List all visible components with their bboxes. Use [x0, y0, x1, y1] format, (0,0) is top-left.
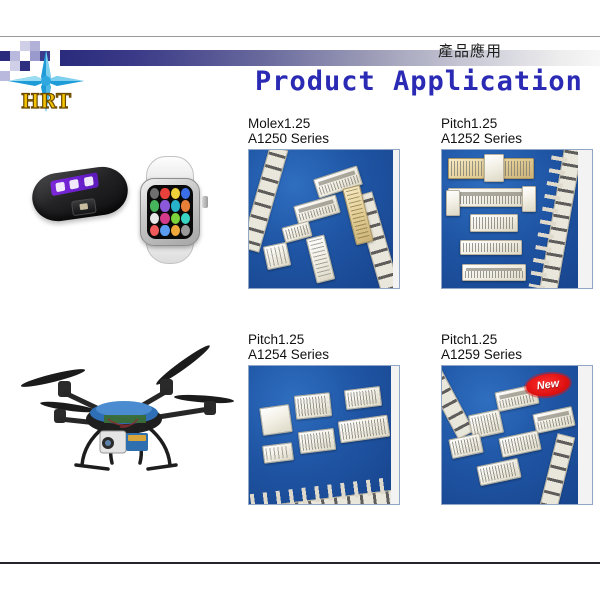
- product-card-a1252[interactable]: Pitch1.25 A1252 Series: [441, 116, 593, 289]
- page-title-english: Product Application: [255, 66, 600, 97]
- product-caption-line2: A1254 Series: [248, 347, 400, 362]
- product-card-a1250[interactable]: Molex1.25 A1250 Series: [248, 116, 400, 289]
- footer-divider: [0, 562, 600, 564]
- wearables-application-photo: [18, 148, 233, 283]
- watch-case: [140, 178, 200, 246]
- product-caption-line1: Pitch1.25: [441, 332, 593, 347]
- header-top-divider: [0, 36, 600, 37]
- band-screen: [50, 172, 99, 196]
- quadcopter-drone-image: [8, 335, 238, 495]
- product-photo-a1259: New: [441, 365, 593, 505]
- smartwatch-image: [130, 156, 214, 264]
- band-clasp: [71, 198, 97, 216]
- page-title-chinese: 產品應用: [380, 40, 560, 61]
- product-caption-line2: A1250 Series: [248, 131, 400, 146]
- fitness-band-image: [29, 164, 131, 225]
- product-caption-line2: A1259 Series: [441, 347, 593, 362]
- product-photo-a1254: [248, 365, 400, 505]
- product-photo-a1252: [441, 149, 593, 289]
- product-photo-a1250: [248, 149, 400, 289]
- product-caption-line1: Molex1.25: [248, 116, 400, 131]
- drone-application-photo: [8, 335, 238, 500]
- product-caption-line1: Pitch1.25: [441, 116, 593, 131]
- hrt-logo[interactable]: HRT: [4, 50, 100, 112]
- product-caption-line1: Pitch1.25: [248, 332, 400, 347]
- slide-page: HRT 產品應用 Product Application: [0, 0, 600, 600]
- logo-wordmark: HRT: [21, 89, 71, 112]
- product-card-a1259[interactable]: Pitch1.25 A1259 Series: [441, 332, 593, 505]
- watch-crown: [202, 196, 208, 208]
- watch-face: [147, 185, 193, 239]
- product-card-a1254[interactable]: Pitch1.25 A1254 Series: [248, 332, 400, 505]
- product-caption-line2: A1252 Series: [441, 131, 593, 146]
